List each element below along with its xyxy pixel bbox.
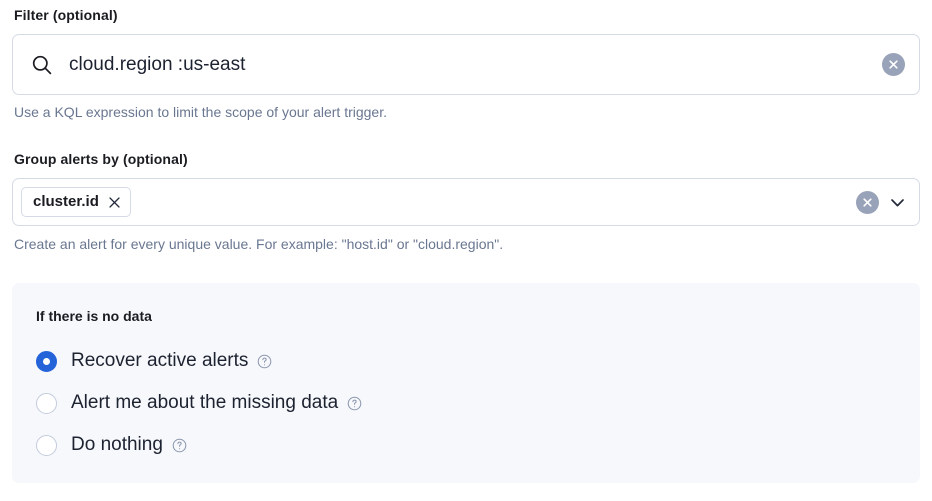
radio-option-label: Alert me about the missing data	[71, 391, 338, 415]
group-alerts-help-text: Create an alert for every unique value. …	[14, 234, 503, 254]
radio-option-label: Do nothing	[71, 433, 163, 457]
question-circle-icon[interactable]	[347, 396, 362, 411]
radio-option-alert-me-about-missing-data[interactable]: Alert me about the missing data	[36, 382, 896, 424]
radio-dot	[43, 358, 50, 365]
filter-label: Filter (optional)	[14, 6, 920, 24]
filter-help-text: Use a KQL expression to limit the scope …	[14, 102, 387, 122]
filter-input-value[interactable]: cloud.region :us-east	[69, 53, 882, 77]
question-circle-icon[interactable]	[172, 438, 187, 453]
group-alerts-pill-cluster-id[interactable]: cluster.id	[21, 187, 131, 217]
no-data-panel: If there is no data Recover active alert…	[12, 283, 920, 483]
filter-input[interactable]: cloud.region :us-east	[12, 34, 920, 95]
radio-button-icon[interactable]	[36, 351, 57, 372]
group-alerts-combobox[interactable]: cluster.id	[12, 178, 920, 226]
group-alerts-clear-button[interactable]	[856, 191, 879, 214]
search-icon	[31, 54, 53, 76]
radio-button-icon[interactable]	[36, 435, 57, 456]
no-data-radio-group: Recover active alerts Alert me about the…	[36, 340, 896, 466]
alert-condition-form: Filter (optional) cloud.region :us-east …	[0, 0, 932, 501]
radio-dot	[43, 442, 50, 449]
radio-option-label: Recover active alerts	[71, 349, 248, 373]
radio-dot	[43, 400, 50, 407]
filter-clear-button[interactable]	[882, 53, 905, 76]
radio-button-icon[interactable]	[36, 393, 57, 414]
group-alerts-label: Group alerts by (optional)	[14, 150, 920, 168]
no-data-panel-title: If there is no data	[36, 307, 152, 325]
group-alerts-field-group: Group alerts by (optional) cluster.id	[12, 150, 920, 226]
close-x-icon[interactable]	[108, 196, 121, 209]
filter-field-group: Filter (optional) cloud.region :us-east	[12, 6, 920, 95]
radio-option-do-nothing[interactable]: Do nothing	[36, 424, 896, 466]
chevron-down-icon[interactable]	[888, 193, 907, 212]
pill-label: cluster.id	[33, 193, 99, 211]
question-circle-icon[interactable]	[257, 354, 272, 369]
combobox-actions	[856, 191, 907, 214]
radio-option-recover-active-alerts[interactable]: Recover active alerts	[36, 340, 896, 382]
